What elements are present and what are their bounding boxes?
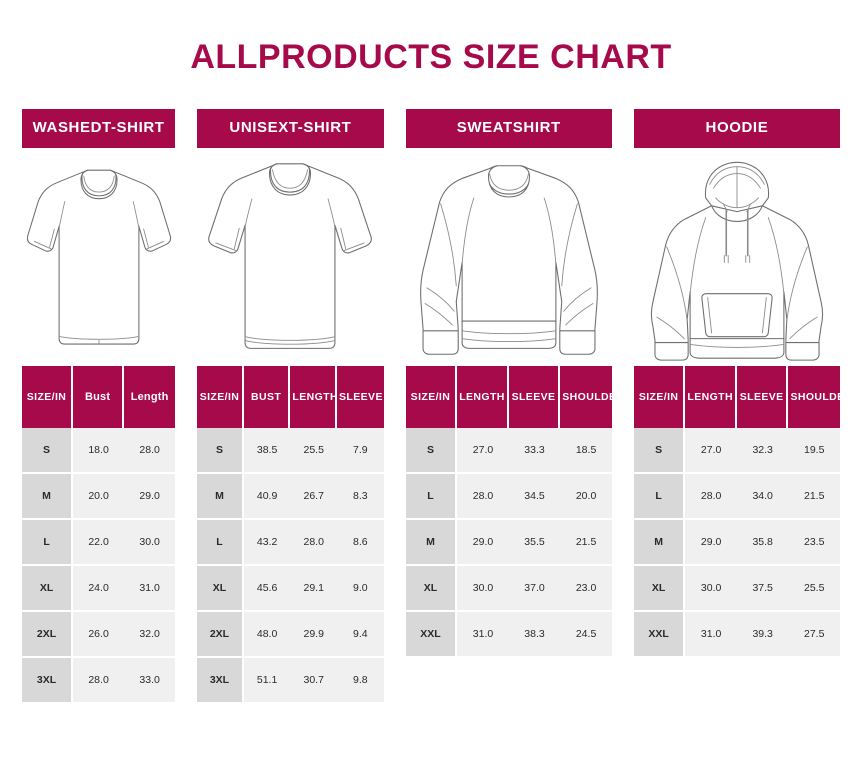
measurement-cell: 31.0 bbox=[457, 612, 509, 656]
measurement-cell: 24.0 bbox=[73, 566, 124, 612]
product-columns: WASHEDT-SHIRT SIZE/INBustLength bbox=[0, 109, 862, 702]
size-label-cell: L bbox=[406, 474, 458, 520]
table-row: XXL31.039.327.5 bbox=[634, 612, 840, 656]
size-label-cell: XXL bbox=[406, 612, 458, 656]
column-header-size-in: SIZE/IN bbox=[406, 366, 458, 428]
table-row: 3XL51.130.79.8 bbox=[197, 658, 384, 702]
table-header-row: SIZE/INBustLength bbox=[22, 366, 175, 428]
sweatshirt-flat-icon bbox=[406, 148, 612, 366]
table-row: 3XL28.033.0 bbox=[22, 658, 175, 702]
category-banner-hoodie: HOODIE bbox=[634, 109, 840, 148]
measurement-cell: 33.0 bbox=[124, 658, 175, 702]
size-label-cell: M bbox=[406, 520, 458, 566]
table-body: S27.033.318.5L28.034.520.0M29.035.521.5X… bbox=[406, 428, 612, 656]
table-row: XL24.031.0 bbox=[22, 566, 175, 612]
column-header-shoulder: SHOULDER bbox=[788, 366, 840, 428]
measurement-cell: 9.8 bbox=[337, 658, 384, 702]
measurement-cell: 34.5 bbox=[509, 474, 561, 520]
table-row: XL30.037.525.5 bbox=[634, 566, 840, 612]
table-row: S27.033.318.5 bbox=[406, 428, 612, 474]
table-row: L22.030.0 bbox=[22, 520, 175, 566]
table-row: S18.028.0 bbox=[22, 428, 175, 474]
column-header-length: LENGTH bbox=[457, 366, 509, 428]
column-header-bust: Bust bbox=[73, 366, 124, 428]
measurement-cell: 29.0 bbox=[685, 520, 737, 566]
size-table-hoodie: SIZE/INLENGTHSLEEVESHOULDER S27.032.319.… bbox=[634, 366, 840, 656]
size-label-cell: L bbox=[634, 474, 686, 520]
size-label-cell: 3XL bbox=[22, 658, 73, 702]
column-header-sleeve: SLEEVE bbox=[509, 366, 561, 428]
measurement-cell: 29.1 bbox=[290, 566, 337, 612]
measurement-cell: 45.6 bbox=[244, 566, 291, 612]
page-title: ALLPRODUCTS SIZE CHART bbox=[0, 0, 862, 77]
category-banner-washed-t-shirt: WASHEDT-SHIRT bbox=[22, 109, 175, 148]
category-banner-sweatshirt: SWEATSHIRT bbox=[406, 109, 612, 148]
table-row: L28.034.520.0 bbox=[406, 474, 612, 520]
measurement-cell: 18.0 bbox=[73, 428, 124, 474]
table-body: S27.032.319.5L28.034.021.5M29.035.823.5X… bbox=[634, 428, 840, 656]
column-header-size-in: SIZE/IN bbox=[22, 366, 73, 428]
measurement-cell: 26.0 bbox=[73, 612, 124, 658]
measurement-cell: 32.0 bbox=[124, 612, 175, 658]
measurement-cell: 21.5 bbox=[788, 474, 840, 520]
column-header-shoulder: SHOULDER bbox=[560, 366, 612, 428]
size-label-cell: XXL bbox=[634, 612, 686, 656]
measurement-cell: 28.0 bbox=[290, 520, 337, 566]
measurement-cell: 28.0 bbox=[73, 658, 124, 702]
measurement-cell: 22.0 bbox=[73, 520, 124, 566]
measurement-cell: 39.3 bbox=[737, 612, 789, 656]
table-row: S38.525.57.9 bbox=[197, 428, 384, 474]
size-label-cell: 2XL bbox=[197, 612, 244, 658]
measurement-cell: 23.5 bbox=[788, 520, 840, 566]
size-label-cell: S bbox=[634, 428, 686, 474]
measurement-cell: 9.0 bbox=[337, 566, 384, 612]
measurement-cell: 28.0 bbox=[685, 474, 737, 520]
measurement-cell: 20.0 bbox=[73, 474, 124, 520]
table-row: M20.029.0 bbox=[22, 474, 175, 520]
measurement-cell: 18.5 bbox=[560, 428, 612, 474]
size-label-cell: XL bbox=[406, 566, 458, 612]
measurement-cell: 19.5 bbox=[788, 428, 840, 474]
measurement-cell: 9.4 bbox=[337, 612, 384, 658]
product-column-sweatshirt: SWEATSHIRT bbox=[406, 109, 612, 702]
measurement-cell: 30.7 bbox=[290, 658, 337, 702]
table-row: XL45.629.19.0 bbox=[197, 566, 384, 612]
table-row: 2XL48.029.99.4 bbox=[197, 612, 384, 658]
measurement-cell: 31.0 bbox=[685, 612, 737, 656]
measurement-cell: 40.9 bbox=[244, 474, 291, 520]
size-label-cell: S bbox=[197, 428, 244, 474]
column-header-length: LENGTH bbox=[290, 366, 337, 428]
measurement-cell: 48.0 bbox=[244, 612, 291, 658]
measurement-cell: 29.0 bbox=[457, 520, 509, 566]
measurement-cell: 51.1 bbox=[244, 658, 291, 702]
measurement-cell: 20.0 bbox=[560, 474, 612, 520]
size-table-unisex-t-shirt: SIZE/INBUSTLENGTHSLEEVE S38.525.57.9M40.… bbox=[197, 366, 384, 702]
measurement-cell: 21.5 bbox=[560, 520, 612, 566]
size-table-washed-t-shirt: SIZE/INBustLength S18.028.0M20.029.0L22.… bbox=[22, 366, 175, 702]
table-row: 2XL26.032.0 bbox=[22, 612, 175, 658]
column-header-length: Length bbox=[124, 366, 175, 428]
column-header-sleeve: SLEEVE bbox=[337, 366, 384, 428]
measurement-cell: 8.3 bbox=[337, 474, 384, 520]
size-label-cell: M bbox=[22, 474, 73, 520]
measurement-cell: 27.5 bbox=[788, 612, 840, 656]
product-column-washed-t-shirt: WASHEDT-SHIRT SIZE/INBustLength bbox=[22, 109, 175, 702]
measurement-cell: 25.5 bbox=[788, 566, 840, 612]
product-column-hoodie: HOODIE bbox=[634, 109, 840, 702]
size-chart-page: ALLPRODUCTS SIZE CHART WASHEDT-SHIRT bbox=[0, 0, 862, 765]
table-row: XL30.037.023.0 bbox=[406, 566, 612, 612]
measurement-cell: 38.5 bbox=[244, 428, 291, 474]
measurement-cell: 38.3 bbox=[509, 612, 561, 656]
column-header-bust: BUST bbox=[244, 366, 291, 428]
column-header-sleeve: SLEEVE bbox=[737, 366, 789, 428]
table-body: S18.028.0M20.029.0L22.030.0XL24.031.02XL… bbox=[22, 428, 175, 702]
measurement-cell: 35.5 bbox=[509, 520, 561, 566]
column-header-size-in: SIZE/IN bbox=[634, 366, 686, 428]
size-label-cell: M bbox=[197, 474, 244, 520]
table-row: S27.032.319.5 bbox=[634, 428, 840, 474]
size-label-cell: 3XL bbox=[197, 658, 244, 702]
measurement-cell: 37.5 bbox=[737, 566, 789, 612]
size-table-sweatshirt: SIZE/INLENGTHSLEEVESHOULDER S27.033.318.… bbox=[406, 366, 612, 656]
table-row: M29.035.521.5 bbox=[406, 520, 612, 566]
category-banner-unisex-t-shirt: UNISEXT-SHIRT bbox=[197, 109, 384, 148]
measurement-cell: 35.8 bbox=[737, 520, 789, 566]
table-row: M29.035.823.5 bbox=[634, 520, 840, 566]
size-label-cell: L bbox=[22, 520, 73, 566]
measurement-cell: 27.0 bbox=[685, 428, 737, 474]
measurement-cell: 28.0 bbox=[457, 474, 509, 520]
measurement-cell: 7.9 bbox=[337, 428, 384, 474]
table-row: XXL31.038.324.5 bbox=[406, 612, 612, 656]
table-row: L43.228.08.6 bbox=[197, 520, 384, 566]
size-label-cell: 2XL bbox=[22, 612, 73, 658]
size-label-cell: XL bbox=[22, 566, 73, 612]
measurement-cell: 24.5 bbox=[560, 612, 612, 656]
measurement-cell: 32.3 bbox=[737, 428, 789, 474]
size-label-cell: M bbox=[634, 520, 686, 566]
measurement-cell: 30.0 bbox=[124, 520, 175, 566]
measurement-cell: 30.0 bbox=[685, 566, 737, 612]
table-header-row: SIZE/INLENGTHSLEEVESHOULDER bbox=[406, 366, 612, 428]
size-label-cell: XL bbox=[197, 566, 244, 612]
size-label-cell: S bbox=[406, 428, 458, 474]
table-header-row: SIZE/INBUSTLENGTHSLEEVE bbox=[197, 366, 384, 428]
measurement-cell: 28.0 bbox=[124, 428, 175, 474]
measurement-cell: 23.0 bbox=[560, 566, 612, 612]
size-label-cell: S bbox=[22, 428, 73, 474]
table-row: M40.926.78.3 bbox=[197, 474, 384, 520]
product-column-unisex-t-shirt: UNISEXT-SHIRT SIZE/INBUSTLENGTHS bbox=[197, 109, 384, 702]
table-row: L28.034.021.5 bbox=[634, 474, 840, 520]
measurement-cell: 27.0 bbox=[457, 428, 509, 474]
t-shirt-flat-icon bbox=[197, 148, 384, 366]
column-header-length: LENGTH bbox=[685, 366, 737, 428]
table-body: S38.525.57.9M40.926.78.3L43.228.08.6XL45… bbox=[197, 428, 384, 702]
measurement-cell: 43.2 bbox=[244, 520, 291, 566]
measurement-cell: 31.0 bbox=[124, 566, 175, 612]
measurement-cell: 33.3 bbox=[509, 428, 561, 474]
measurement-cell: 26.7 bbox=[290, 474, 337, 520]
measurement-cell: 37.0 bbox=[509, 566, 561, 612]
size-label-cell: XL bbox=[634, 566, 686, 612]
measurement-cell: 29.0 bbox=[124, 474, 175, 520]
measurement-cell: 34.0 bbox=[737, 474, 789, 520]
table-header-row: SIZE/INLENGTHSLEEVESHOULDER bbox=[634, 366, 840, 428]
measurement-cell: 25.5 bbox=[290, 428, 337, 474]
measurement-cell: 8.6 bbox=[337, 520, 384, 566]
t-shirt-flat-icon bbox=[22, 148, 175, 366]
measurement-cell: 30.0 bbox=[457, 566, 509, 612]
hoodie-flat-icon bbox=[634, 148, 840, 366]
column-header-size-in: SIZE/IN bbox=[197, 366, 244, 428]
size-label-cell: L bbox=[197, 520, 244, 566]
measurement-cell: 29.9 bbox=[290, 612, 337, 658]
